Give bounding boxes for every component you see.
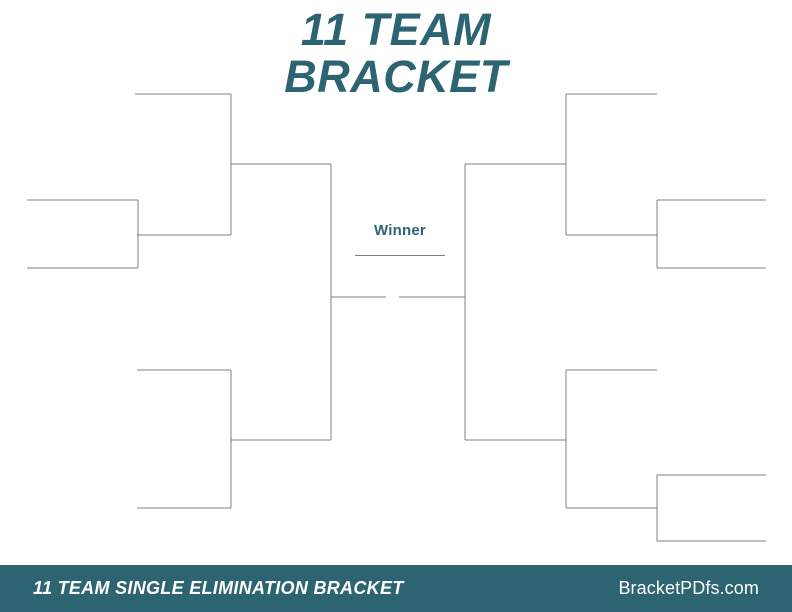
bracket-page: 11 TEAM BRACKET Winner 11 TEAM SINGLE EL… — [0, 0, 792, 612]
bracket-diagram — [0, 0, 792, 565]
footer-title: 11 TEAM SINGLE ELIMINATION BRACKET — [33, 578, 404, 599]
bracket-line-group — [27, 94, 766, 541]
footer-bar: 11 TEAM SINGLE ELIMINATION BRACKET Brack… — [0, 565, 792, 612]
footer-website: BracketPDfs.com — [618, 578, 759, 599]
